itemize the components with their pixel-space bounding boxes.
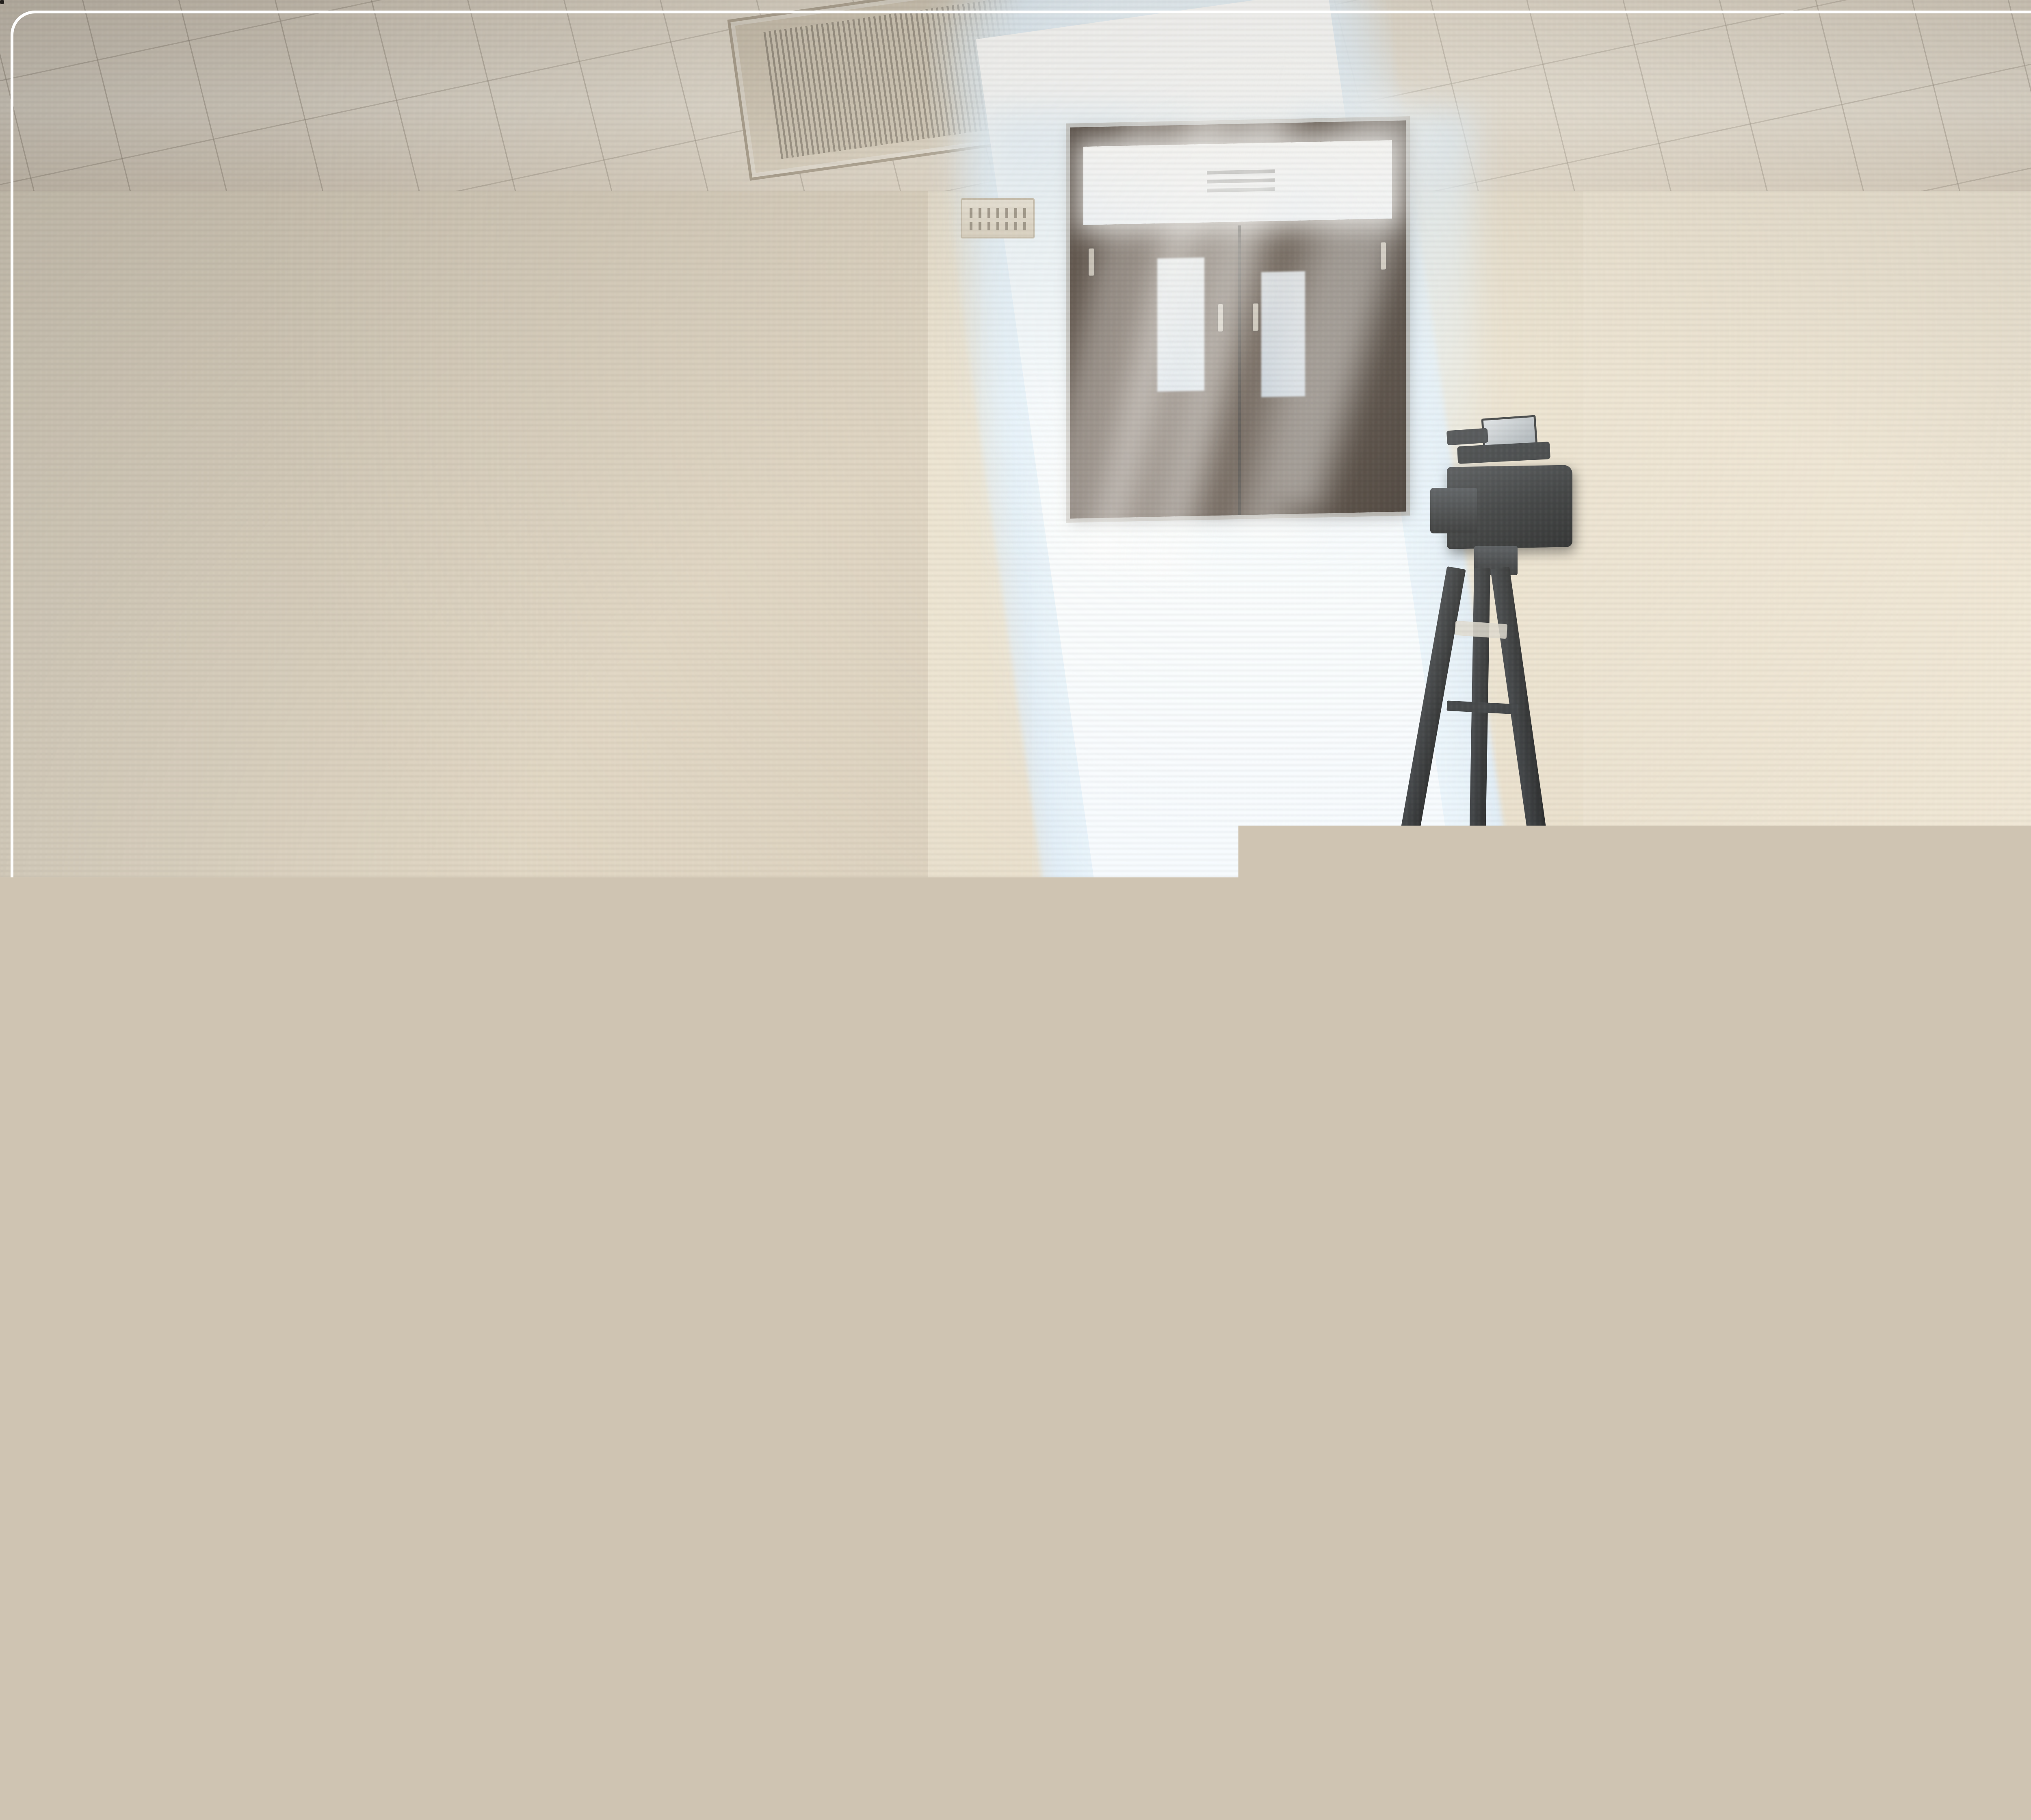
transom-window (1083, 140, 1392, 225)
lecture-hall-door[interactable] (1070, 120, 1406, 519)
door-handle-left[interactable] (1218, 304, 1223, 331)
door-light-patch-right (1261, 271, 1305, 397)
wall-socket-panel[interactable] (961, 198, 1034, 238)
door-light-patch-left (1157, 258, 1204, 392)
camera-lens-icon (1430, 488, 1477, 533)
door-handle-right[interactable] (1253, 303, 1258, 331)
attendee-3-glasses (0, 0, 4, 4)
door-hinge-right (1381, 242, 1386, 270)
upholstered-green-chair (1698, 848, 1851, 1009)
door-center-seam (1238, 225, 1241, 515)
camera-microphone (1446, 428, 1488, 446)
lecture-hall-photo: المؤتمر العلمي للتعليم المستمر والتطوير … (0, 0, 2031, 1820)
door-hinge-left (1089, 248, 1094, 276)
